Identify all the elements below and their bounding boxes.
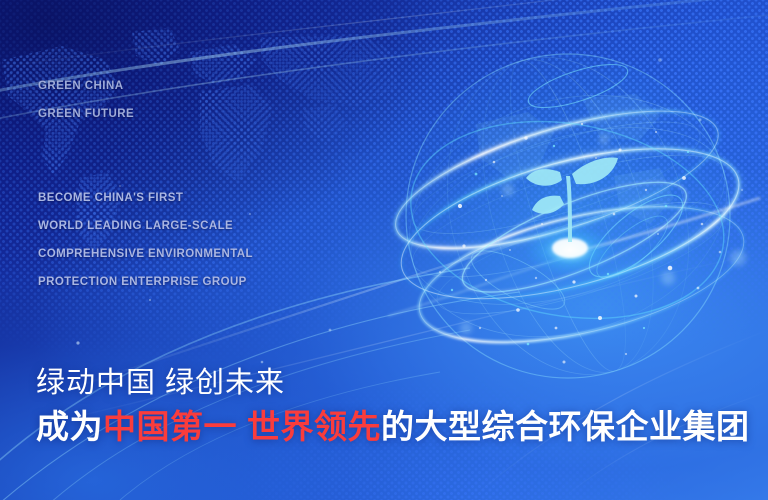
tagline-mid-line-4: PROTECTION ENTERPRISE GROUP [38, 268, 253, 296]
tagline-top-line-1: GREEN CHINA [38, 72, 134, 100]
headline-cn-highlight-a: 中国第一 [103, 408, 237, 445]
headline-cn-line-2: 成为中国第一世界领先的大型综合环保企业集团 [36, 407, 750, 447]
tagline-top-line-2: GREEN FUTURE [38, 100, 134, 128]
headline-cn-line2-suffix: 的大型综合环保企业集团 [381, 408, 750, 445]
tagline-mid-line-1: BECOME CHINA'S FIRST [38, 184, 253, 212]
headline-cn-line1-part-b: 绿创未来 [165, 367, 285, 399]
tagline-mid-line-2: WORLD LEADING LARGE-SCALE [38, 212, 253, 240]
tagline-mid-line-3: COMPREHENSIVE ENVIRONMENTAL [38, 240, 253, 268]
tagline-mid: BECOME CHINA'S FIRST WORLD LEADING LARGE… [38, 184, 253, 296]
headline-cn-line-1: 绿动中国绿创未来 [36, 366, 285, 400]
wireframe-globe-icon [368, 28, 768, 400]
hero-banner: GREEN CHINA GREEN FUTURE BECOME CHINA'S … [0, 0, 768, 500]
headline-cn-line1-part-a: 绿动中国 [36, 367, 156, 399]
tagline-top: GREEN CHINA GREEN FUTURE [38, 72, 134, 128]
sprout-seedling-icon [526, 158, 618, 242]
headline-cn-highlight-b: 世界领先 [247, 408, 381, 445]
headline-cn-line2-prefix: 成为 [36, 408, 103, 445]
